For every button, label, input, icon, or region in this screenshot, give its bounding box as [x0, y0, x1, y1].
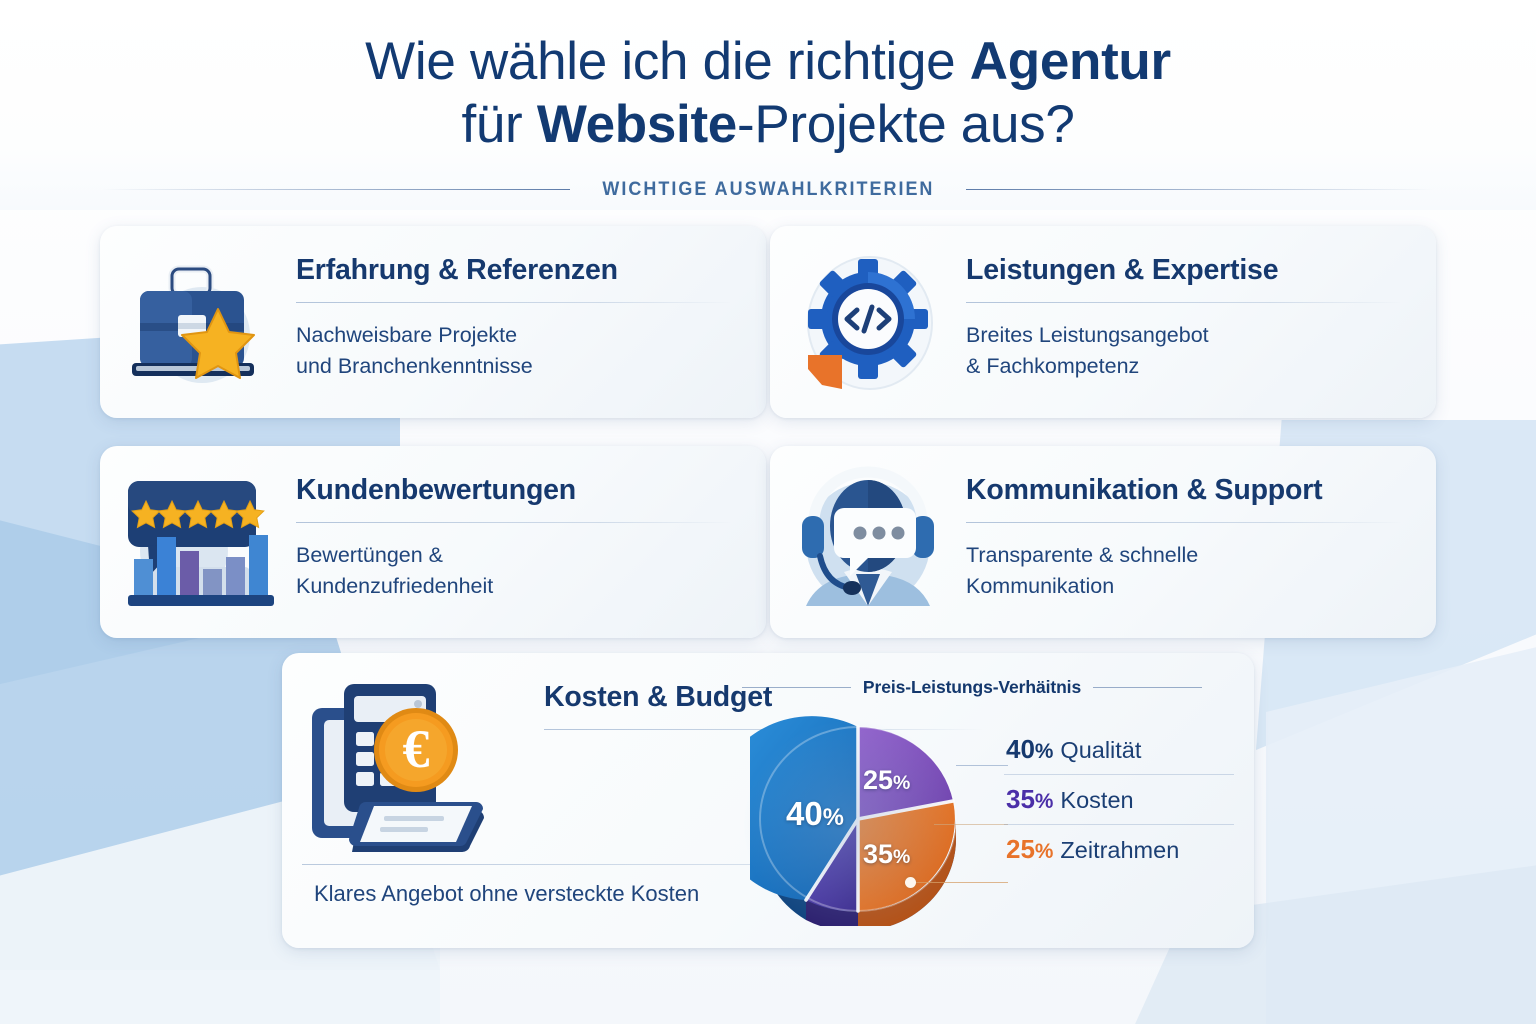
price-performance-chart: Preis-Leistungs-Verhäitnis — [742, 667, 1242, 937]
card-body: Kundenbewertungen Bewertüngen & Kundenzu… — [296, 446, 766, 638]
calculator-euro-icon: € — [300, 667, 530, 862]
chart-rule-right — [1093, 687, 1202, 688]
card-description-line-1: Bewertüngen & — [296, 543, 443, 567]
card-description-line-2: & Fachkompetenz — [966, 354, 1139, 378]
legend-value: 25% — [1006, 834, 1053, 864]
criteria-card-kundenbewertungen[interactable]: Kundenbewertungen Bewertüngen & Kundenzu… — [100, 446, 766, 638]
title-part-2: die richtige — [703, 32, 970, 91]
legend-value: 40% — [1006, 734, 1053, 764]
subtitle-rule-right — [966, 189, 1434, 190]
review-stars-chart-icon — [100, 446, 296, 638]
card-body: Erfahrung & Referenzen Nachweisbare Proj… — [296, 226, 766, 418]
title-part-1: Wie wähle ich — [365, 32, 702, 91]
card-description: Bewertüngen & Kundenzufriedenheit — [296, 540, 732, 601]
chart-rule-left — [742, 687, 851, 688]
card-description: Nachweisbare Projekte und Branchenkenntn… — [296, 320, 732, 381]
legend-item-kosten: 35%Kosten — [1004, 774, 1234, 824]
card-heading: Erfahrung & Referenzen — [296, 254, 732, 287]
chart-title-row: Preis-Leistungs-Verhäitnis — [742, 677, 1202, 698]
gear-code-icon — [770, 226, 966, 418]
infographic-canvas: Wie wähle ich die richtige Agentur für W… — [0, 0, 1536, 1024]
legend-label: Zeitrahmen — [1060, 837, 1179, 863]
legend-label: Qualität — [1060, 737, 1141, 763]
title-part-5: Website — [537, 95, 737, 154]
card-description-line-1: Breites Leistungsangebot — [966, 323, 1209, 347]
svg-text:€: € — [403, 719, 430, 779]
card-divider — [296, 522, 732, 523]
legend-item-qualitaet: 40%Qualität — [1004, 725, 1234, 774]
card-description-line-2: und Branchenkenntnisse — [296, 354, 533, 378]
header: Wie wähle ich die richtige Agentur für W… — [0, 0, 1536, 201]
card-description-line-1: Nachweisbare Projekte — [296, 323, 517, 347]
leader-line-3 — [912, 882, 1008, 883]
card-heading: Kommunikation & Support — [966, 474, 1402, 507]
card-body: Kommunikation & Support Transparente & s… — [966, 446, 1436, 638]
card-heading: Kundenbewertungen — [296, 474, 732, 507]
criteria-card-erfahrung[interactable]: Erfahrung & Referenzen Nachweisbare Proj… — [100, 226, 766, 418]
title-part-3: Agentur — [970, 32, 1171, 91]
pie-shadow — [744, 721, 959, 929]
chart-legend: 40%Qualität 35%Kosten 25%Zeitrahmen — [1004, 725, 1234, 874]
criteria-card-leistungen[interactable]: Leistungen & Expertise Breites Leistungs… — [770, 226, 1436, 418]
briefcase-star-icon — [100, 226, 296, 418]
card-divider — [966, 522, 1402, 523]
pie-chart: 40% 25% 35% — [750, 711, 965, 926]
legend-label: Kosten — [1060, 787, 1133, 813]
leader-line-1 — [956, 765, 1008, 766]
legend-value: 35% — [1006, 784, 1053, 814]
card-heading: Leistungen & Expertise — [966, 254, 1402, 287]
headset-support-icon — [770, 446, 966, 638]
leader-line-2 — [934, 824, 1008, 825]
title-part-4: für — [461, 95, 536, 154]
page-title: Wie wähle ich die richtige Agentur für W… — [0, 30, 1536, 156]
title-line-2: für Website-Projekte aus? — [0, 93, 1536, 156]
card-divider — [966, 302, 1402, 303]
card-description: Breites Leistungsangebot & Fachkompetenz — [966, 320, 1402, 381]
title-part-6: -Projekte aus? — [737, 95, 1075, 154]
criteria-card-kosten-budget[interactable]: € Kosten & Budget Klares Angebot ohne ve… — [282, 653, 1254, 948]
card-description-line-1: Transparente & schnelle — [966, 543, 1198, 567]
chart-title: Preis-Leistungs-Verhäitnis — [863, 677, 1081, 698]
subtitle: WICHTIGE AUSWAHLKRITERIEN — [602, 178, 934, 201]
legend-item-zeitrahmen: 25%Zeitrahmen — [1004, 824, 1234, 874]
subtitle-rule-left — [102, 189, 570, 190]
leader-dot — [905, 877, 916, 888]
background-shape-right-2 — [1266, 640, 1536, 1024]
card-description-line-2: Kommunikation — [966, 574, 1114, 598]
card-description-line-2: Kundenzufriedenheit — [296, 574, 493, 598]
card-divider — [296, 302, 732, 303]
criteria-card-kommunikation[interactable]: Kommunikation & Support Transparente & s… — [770, 446, 1436, 638]
card-description: Transparente & schnelle Kommunikation — [966, 540, 1402, 601]
subtitle-divider: WICHTIGE AUSWAHLKRITERIEN — [0, 178, 1536, 201]
card-body: Leistungen & Expertise Breites Leistungs… — [966, 226, 1436, 418]
